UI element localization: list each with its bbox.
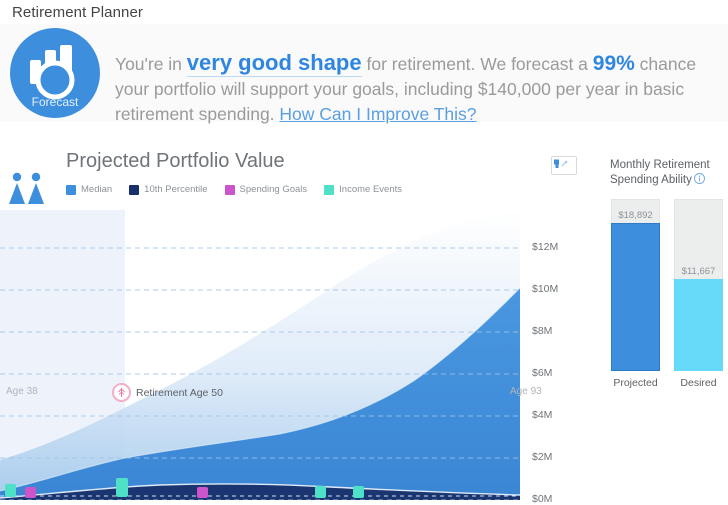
forecast-badge[interactable]: Forecast — [10, 28, 100, 118]
info-icon[interactable] — [694, 173, 705, 184]
forecast-message: You're in very good shape for retirement… — [115, 50, 715, 127]
legend-item-spending-goals[interactable]: Spending Goals — [225, 184, 308, 195]
age-start-label: Age 38 — [6, 386, 38, 397]
monthly-spending-panel: Monthly Retirement Spending Ability $18,… — [596, 132, 728, 405]
monthly-spending-title: Monthly Retirement Spending Ability — [610, 158, 728, 187]
chart-settings-icon — [552, 157, 574, 172]
bar-category-projected: Projected — [611, 377, 660, 389]
legend-label-median: Median — [81, 184, 112, 195]
two-people-icon — [6, 170, 50, 210]
legend-swatch-median — [66, 185, 76, 195]
legend-swatch-spending-goals — [225, 185, 235, 195]
bar-value-desired: $11,667 — [674, 266, 723, 277]
chart-legend: Median 10th Percentile Spending Goals In… — [66, 184, 414, 195]
forecast-badge-label: Forecast — [10, 95, 100, 109]
hero-text-mid: for retirement. We forecast a — [362, 54, 593, 74]
portfolio-area-chart-svg — [0, 210, 520, 500]
legend-label-spending-goals: Spending Goals — [240, 184, 308, 195]
retirement-age-label: Retirement Age 50 — [136, 387, 223, 399]
age-end-label: Age 93 — [510, 386, 542, 397]
retirement-planner-page: Retirement Planner Forecast You're in ve… — [0, 0, 728, 405]
bar-value-projected: $18,892 — [611, 210, 660, 221]
bar-category-desired: Desired — [674, 377, 723, 389]
y-axis: $12M $10M $8M $6M $4M $2M $0M — [532, 210, 590, 500]
legend-swatch-income-events — [324, 185, 334, 195]
retirement-marker[interactable]: Retirement Age 50 — [112, 383, 223, 402]
chart-title: Projected Portfolio Value — [66, 150, 285, 173]
y-tick-4m: $4M — [532, 409, 552, 421]
bar-fill-desired — [674, 279, 723, 371]
improve-link[interactable]: How Can I Improve This? — [279, 104, 476, 124]
x-axis: Age 38 Retirement Age 50 Age 93 — [0, 383, 590, 405]
y-tick-10m: $10M — [532, 283, 558, 295]
projected-portfolio-card: Projected Portfolio Value Median 10th Pe… — [0, 132, 590, 405]
hero-highlight: very good shape — [187, 50, 362, 77]
portfolio-area-chart[interactable] — [0, 210, 520, 500]
y-tick-2m: $2M — [532, 451, 552, 463]
legend-item-income-events[interactable]: Income Events — [324, 184, 402, 195]
y-tick-8m: $8M — [532, 325, 552, 337]
legend-label-income-events: Income Events — [339, 184, 402, 195]
y-tick-0m: $0M — [532, 493, 552, 505]
legend-item-10th-percentile[interactable]: 10th Percentile — [129, 184, 207, 195]
chart-settings-button[interactable] — [551, 156, 577, 175]
bar-column-desired[interactable]: $11,667 — [674, 199, 723, 371]
forecast-banner: Forecast You're in very good shape for r… — [0, 24, 728, 122]
spending-bar-chart: $18,892 $11,667 — [606, 199, 728, 371]
bar-column-projected[interactable]: $18,892 — [611, 199, 660, 371]
y-tick-12m: $12M — [532, 241, 558, 253]
retirement-tree-icon — [112, 383, 131, 402]
page-title: Retirement Planner — [12, 4, 143, 21]
hero-percent: 99% — [593, 52, 635, 75]
legend-item-median[interactable]: Median — [66, 184, 112, 195]
legend-label-10th-percentile: 10th Percentile — [144, 184, 207, 195]
hero-text-lead: You're in — [115, 54, 187, 74]
legend-swatch-10th-percentile — [129, 185, 139, 195]
y-tick-6m: $6M — [532, 367, 552, 379]
bar-fill-projected — [611, 223, 660, 371]
